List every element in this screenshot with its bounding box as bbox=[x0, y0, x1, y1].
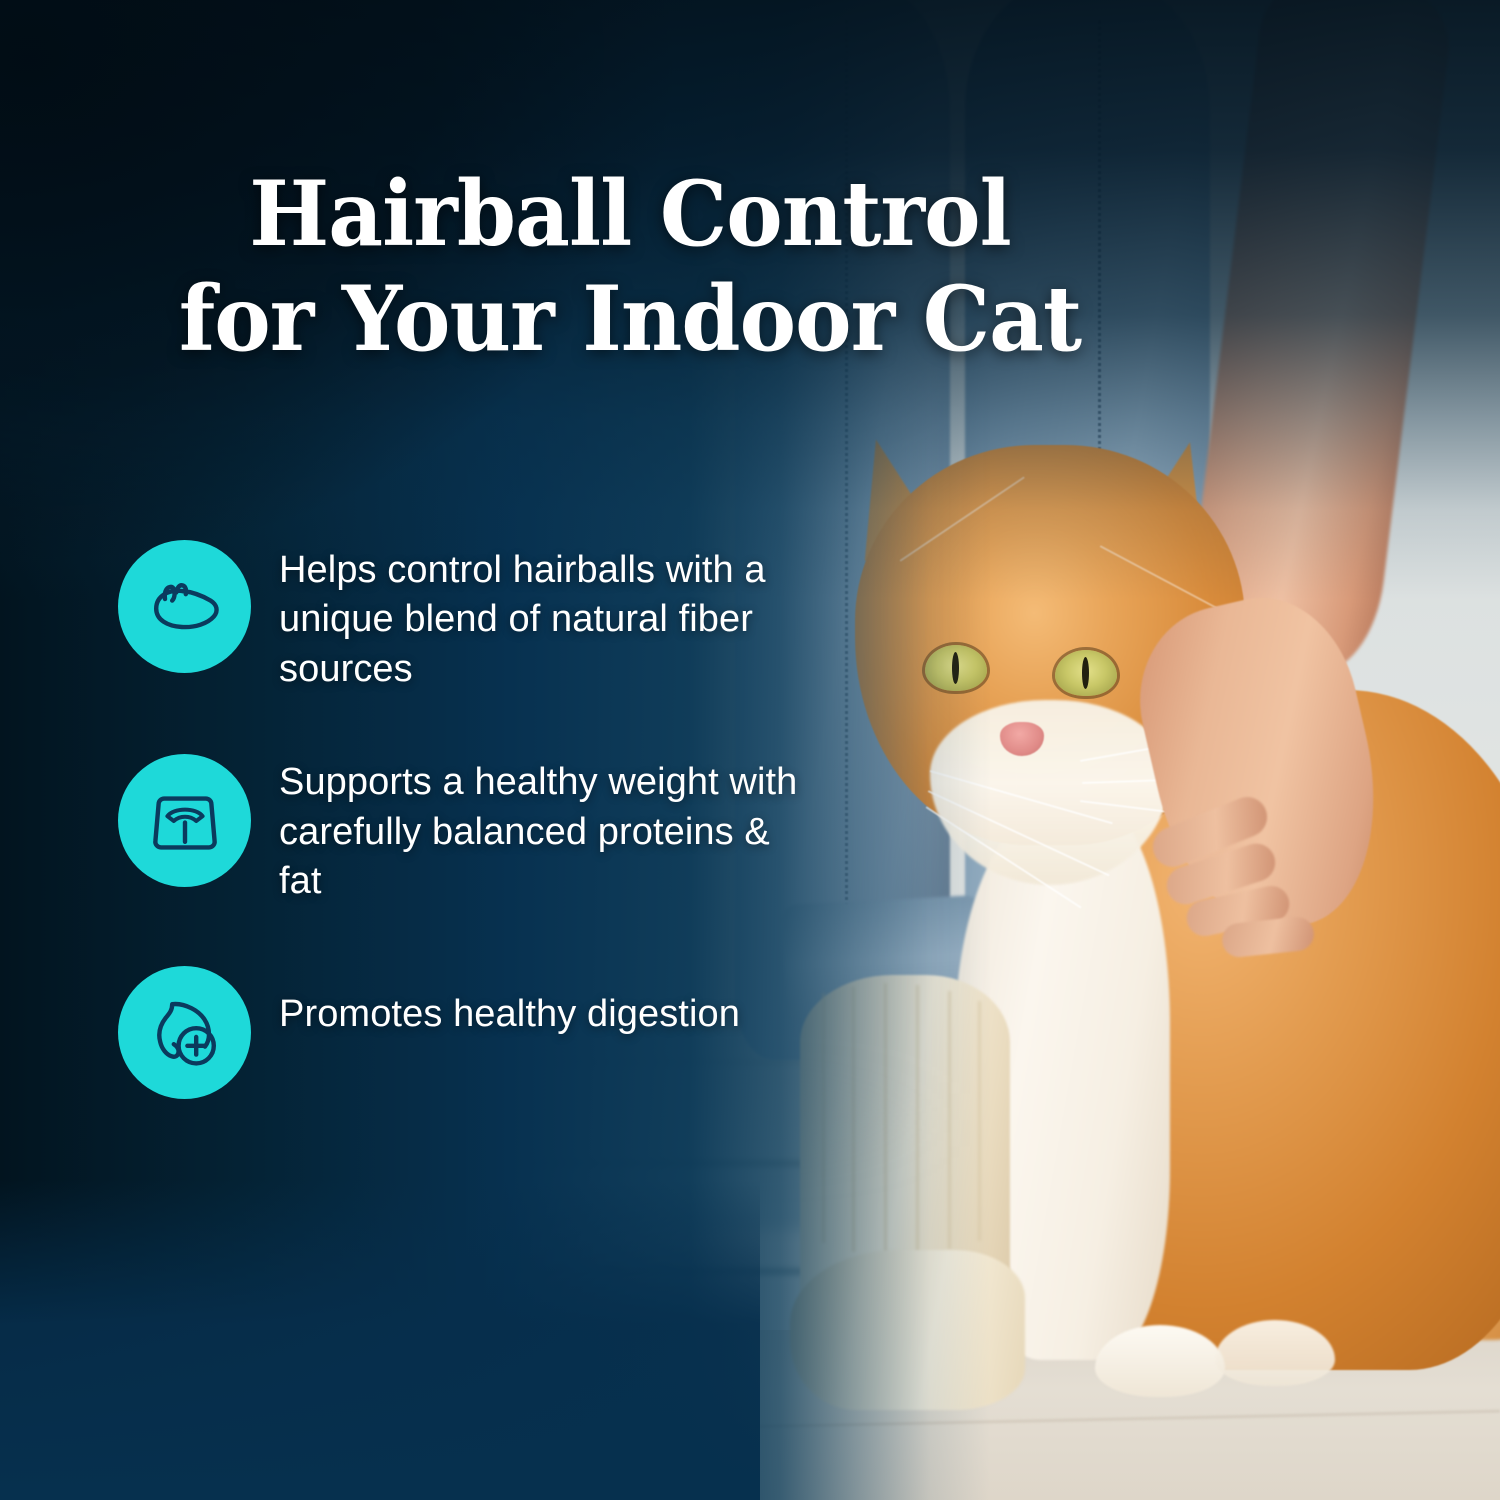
feature-item-hairball: Helps control hairballs with a unique bl… bbox=[118, 540, 798, 694]
hairball-icon-badge bbox=[118, 540, 251, 673]
page-title: Hairball Control for Your Indoor Cat bbox=[38, 162, 1222, 373]
stomach-plus-icon bbox=[145, 993, 225, 1073]
feature-item-weight: Supports a healthy weight with carefully… bbox=[118, 754, 798, 906]
stomach-plus-icon-badge bbox=[118, 966, 251, 1099]
feature-text: Supports a healthy weight with carefully… bbox=[279, 754, 798, 906]
headline-line-1: Hairball Control bbox=[38, 162, 1222, 267]
weight-scale-icon bbox=[145, 781, 225, 861]
feature-item-digestion: Promotes healthy digestion bbox=[118, 966, 798, 1099]
headline-line-2: for Your Indoor Cat bbox=[38, 267, 1222, 372]
weight-scale-icon-badge bbox=[118, 754, 251, 887]
hairball-icon bbox=[145, 567, 225, 647]
feature-text: Promotes healthy digestion bbox=[279, 966, 740, 1039]
feature-text: Helps control hairballs with a unique bl… bbox=[279, 540, 798, 694]
feature-list: Helps control hairballs with a unique bl… bbox=[118, 540, 798, 1099]
navy-gradient-overlay-bottom bbox=[0, 1180, 760, 1500]
product-feature-banner: Hairball Control for Your Indoor Cat Hel… bbox=[0, 0, 1500, 1500]
